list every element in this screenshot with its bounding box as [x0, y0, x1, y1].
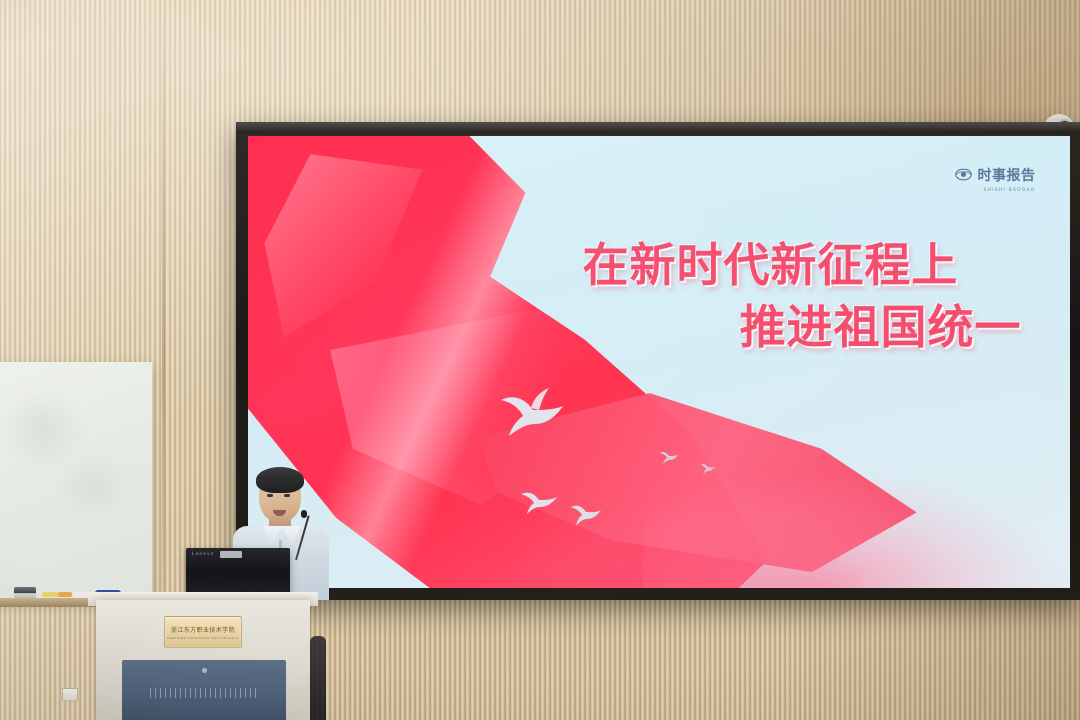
whiteboard-eraser[interactable]: [14, 587, 36, 598]
red-silk-ribbon-graphic: [248, 136, 1070, 588]
microphone-head-icon: [301, 510, 307, 518]
dove-icon: [495, 380, 569, 436]
dove-icon: [659, 448, 679, 464]
marker-orange[interactable]: [58, 592, 72, 597]
dove-icon: [569, 498, 603, 526]
projection-screen-frame: 时事报告 SHISHI BAOGAO 在新时代新征程上 推进祖国统一: [236, 122, 1080, 600]
slide-logo-text: 时事报告: [977, 165, 1035, 185]
wall-socket: [62, 688, 78, 701]
laptop-screen[interactable]: Lenovo: [186, 548, 290, 596]
dove-icon: [519, 484, 559, 514]
speaker-hair: [256, 467, 304, 493]
chair: [310, 636, 326, 720]
slide-logo-subtext: SHISHI BAOGAO: [984, 188, 1036, 193]
laptop-sticker: [220, 551, 242, 558]
podium-plaque: 浙江东方职业技术学院 ZHEJIANG DONGFANG POLYTECHNIC: [164, 616, 242, 648]
eye-emblem-icon: [955, 166, 972, 183]
whiteboard: [0, 362, 152, 602]
marker-yellow[interactable]: [42, 592, 58, 597]
dove-icon: [700, 461, 716, 474]
slide-headline-line2: 推进祖国统一: [248, 297, 1037, 359]
podium-plaque-text: 浙江东方职业技术学院: [171, 625, 235, 634]
lecture-hall-scene: 时事报告 SHISHI BAOGAO 在新时代新征程上 推进祖国统一 Lenov…: [0, 0, 1080, 720]
speaker-eye-right: [284, 494, 290, 497]
whiteboard-smudges: [0, 362, 152, 602]
podium-plaque-subtext: ZHEJIANG DONGFANG POLYTECHNIC: [167, 636, 239, 640]
podium-vent-grille: [150, 688, 258, 698]
speaker-eye-left: [267, 494, 273, 497]
laptop-brand-label: Lenovo: [192, 552, 214, 557]
presentation-slide: 时事报告 SHISHI BAOGAO 在新时代新征程上 推进祖国统一: [248, 136, 1070, 588]
podium-front-panel: [122, 660, 286, 720]
slide-headline: 在新时代新征程上 推进祖国统一: [248, 235, 1037, 358]
slide-headline-line1: 在新时代新征程上: [248, 235, 1037, 297]
slide-logo: 时事报告: [955, 165, 1035, 185]
podium-indicator-dot: [202, 668, 207, 673]
